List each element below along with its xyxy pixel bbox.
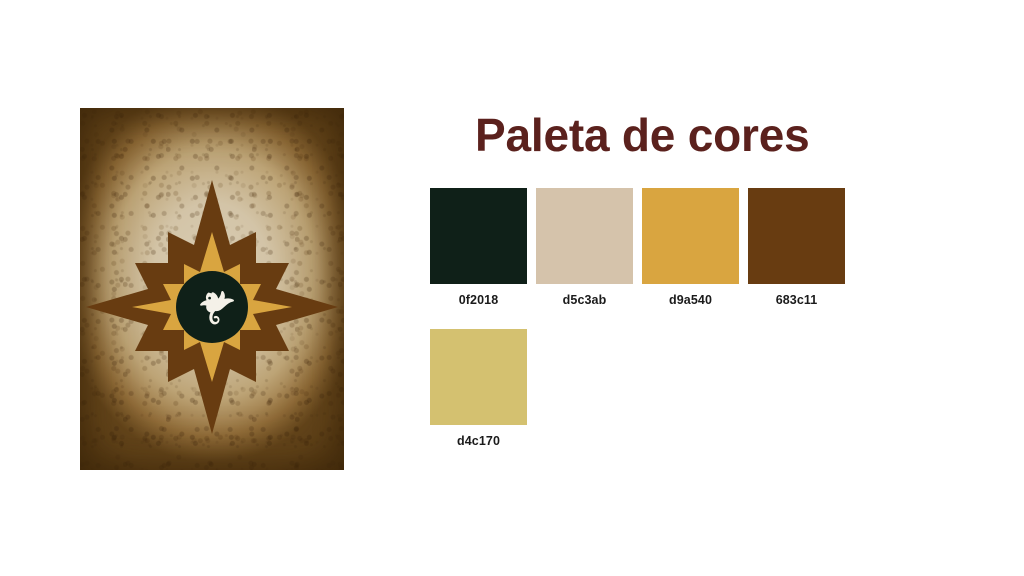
swatch-item-d5c3ab[interactable]: d5c3ab [536, 188, 633, 307]
color-hex-label: 0f2018 [459, 293, 499, 307]
color-chip[interactable] [430, 329, 527, 425]
color-chip[interactable] [536, 188, 633, 284]
swatch-row: d4c170 [430, 329, 975, 448]
color-chip[interactable] [748, 188, 845, 284]
swatch-item-683c11[interactable]: 683c11 [748, 188, 845, 307]
color-hex-label: 683c11 [776, 293, 818, 307]
star-emblem-artwork [80, 108, 344, 470]
swatch-item-0f2018[interactable]: 0f2018 [430, 188, 527, 307]
color-chip[interactable] [642, 188, 739, 284]
color-hex-label: d5c3ab [563, 293, 607, 307]
page-title: Paleta de cores [475, 108, 810, 162]
swatch-grid: 0f2018 d5c3ab d9a540 683c11 [430, 188, 975, 448]
swatch-item-d4c170[interactable]: d4c170 [430, 329, 527, 448]
slide-canvas: Paleta de cores 0f2018 d5c3ab d9a540 [0, 0, 1024, 576]
color-chip[interactable] [430, 188, 527, 284]
color-hex-label: d9a540 [669, 293, 712, 307]
eight-pointed-star-emblem [80, 108, 344, 470]
color-palette-panel: Paleta de cores 0f2018 d5c3ab d9a540 [420, 100, 980, 460]
swatch-item-d9a540[interactable]: d9a540 [642, 188, 739, 307]
swatch-row: 0f2018 d5c3ab d9a540 683c11 [430, 188, 975, 307]
color-hex-label: d4c170 [457, 434, 500, 448]
